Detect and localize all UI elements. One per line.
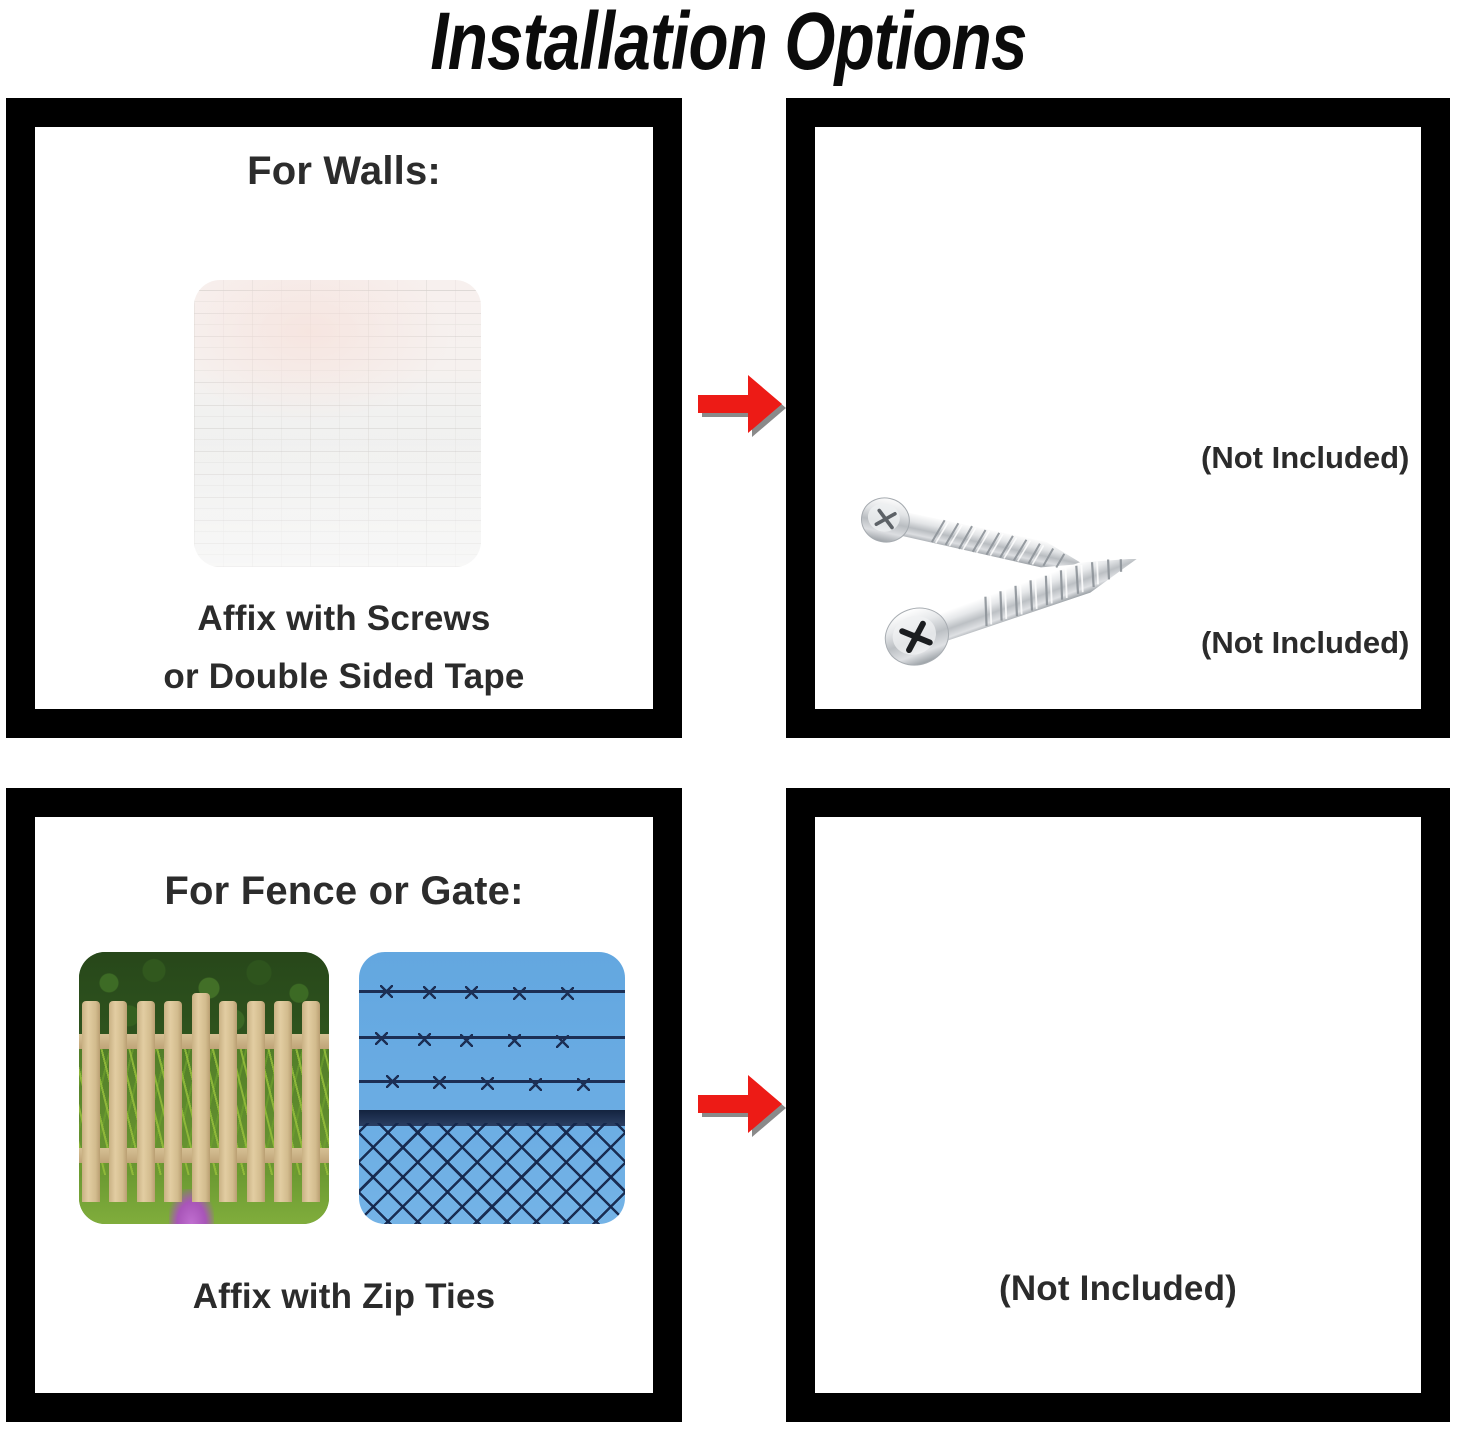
barbed-wire-1 (359, 990, 625, 993)
installation-options-infographic: Installation Options For Walls: Affix wi… (0, 0, 1457, 1434)
phillips-screw-lower-icon (867, 559, 1187, 687)
phillips-screw-upper-icon (853, 475, 1133, 571)
fence-pickets (79, 952, 329, 1224)
brick-shading (194, 280, 481, 567)
panel-for-fence-or-gate: For Fence or Gate: (6, 788, 682, 1422)
panel-walls-caption-line1: Affix with Screws (35, 599, 653, 639)
wooden-picket-fence-photo (79, 952, 329, 1224)
page-title: Installation Options (146, 0, 1312, 88)
screws-not-included-note: (Not Included) (1201, 625, 1409, 661)
panel-wall-hardware: (Not Included) (786, 98, 1450, 738)
panel-walls-caption-line2: or Double Sided Tape (35, 657, 653, 697)
tape-not-included-note: (Not Included) (1201, 440, 1409, 476)
panel-fence-caption: Affix with Zip Ties (35, 1277, 653, 1317)
chain-link-mesh (359, 1123, 625, 1224)
red-arrow-right-fence (690, 1067, 786, 1141)
panel-for-walls: For Walls: Affix with Screws or Double S… (6, 98, 682, 738)
panel-zip-tie-hardware: (Not Included) (786, 788, 1450, 1422)
panel-walls-heading: For Walls: (35, 149, 653, 194)
chain-link-fence-photo (359, 952, 625, 1224)
barbed-wire-2 (359, 1036, 625, 1039)
zip-ties-not-included-note: (Not Included) (815, 1269, 1421, 1309)
red-arrow-right-walls (690, 367, 786, 441)
panel-fence-heading: For Fence or Gate: (35, 869, 653, 914)
whitewashed-brick-wall-photo (194, 280, 481, 567)
